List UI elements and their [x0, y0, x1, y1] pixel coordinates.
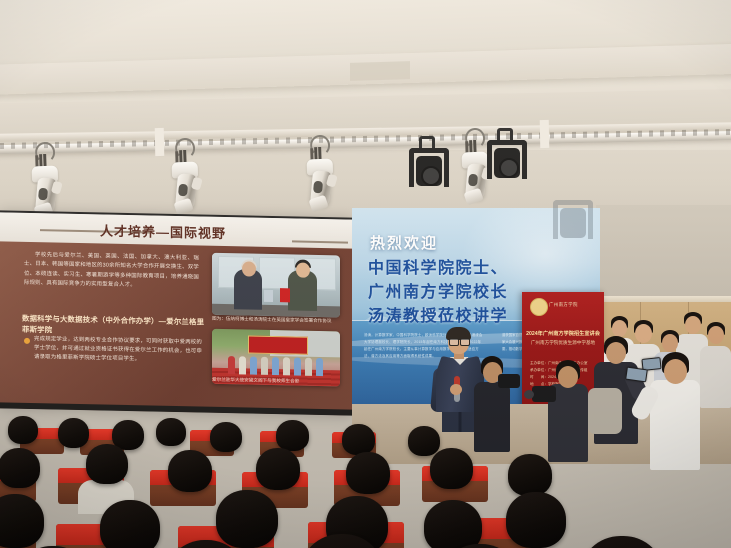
audience-seating — [0, 404, 731, 548]
welcome-line-3: 广州南方学院校长 — [368, 278, 508, 302]
light-lens — [178, 184, 188, 197]
light-hook — [175, 138, 196, 160]
slide-bullet-text: 完成规定学业，达到两校专业合作协议要求，可同时获取中爱两校的学士学位，并可通过就… — [34, 335, 202, 366]
stage-light-icon — [27, 141, 64, 216]
camera-icon — [498, 374, 520, 388]
light-hook — [465, 128, 486, 150]
rollup-subtitle: 广州南方学院优质生源中学基地 — [526, 340, 600, 346]
rollup-logo-text: 广州南方学院 — [549, 302, 578, 308]
light-lens — [38, 188, 48, 201]
camera-icon — [532, 386, 556, 402]
rail-bracket — [155, 128, 165, 156]
rollup-title: 2024年广州南方学院招生宣讲会 — [526, 330, 600, 337]
welcome-headline: 热烈欢迎 — [370, 232, 438, 253]
stage-light-icon — [167, 137, 204, 212]
glasses-icon — [449, 338, 459, 346]
speaker-hand — [450, 384, 462, 395]
slide-photo-signing — [212, 253, 340, 318]
welcome-line-2: 中国科学院院士、 — [368, 254, 508, 278]
light-lens — [313, 181, 323, 194]
stage-light-icon — [302, 134, 339, 209]
bullet-dot-icon — [24, 338, 30, 344]
light-hook — [310, 135, 331, 157]
slide-paragraph: 学校先后与爱尔兰、美国、英国、法国、加拿大、澳大利亚、瑞士、日本、韩国等国家和地… — [24, 251, 199, 292]
light-lens — [468, 174, 478, 187]
light-arm — [326, 174, 338, 188]
auditorium-photo: 人才培养—国际视野 学校先后与爱尔兰、美国、英国、法国、加拿大、澳大利亚、瑞士、… — [0, 0, 731, 548]
welcome-line-4: 汤涛教授莅校讲学 — [368, 302, 508, 326]
rail-bracket — [540, 120, 550, 148]
light-arm — [51, 181, 63, 195]
ceiling-notch — [350, 61, 410, 81]
camera-lens-icon — [524, 390, 534, 399]
projection-screen-left: 人才培养—国际视野 学校先后与爱尔兰、美国、英国、法国、加拿大、澳大利亚、瑞士、… — [0, 212, 352, 415]
glasses-icon — [460, 338, 470, 346]
smartphone-icon — [625, 367, 648, 383]
light-arm — [191, 177, 203, 191]
university-logo-icon — [530, 298, 548, 316]
light-hook — [35, 142, 56, 164]
